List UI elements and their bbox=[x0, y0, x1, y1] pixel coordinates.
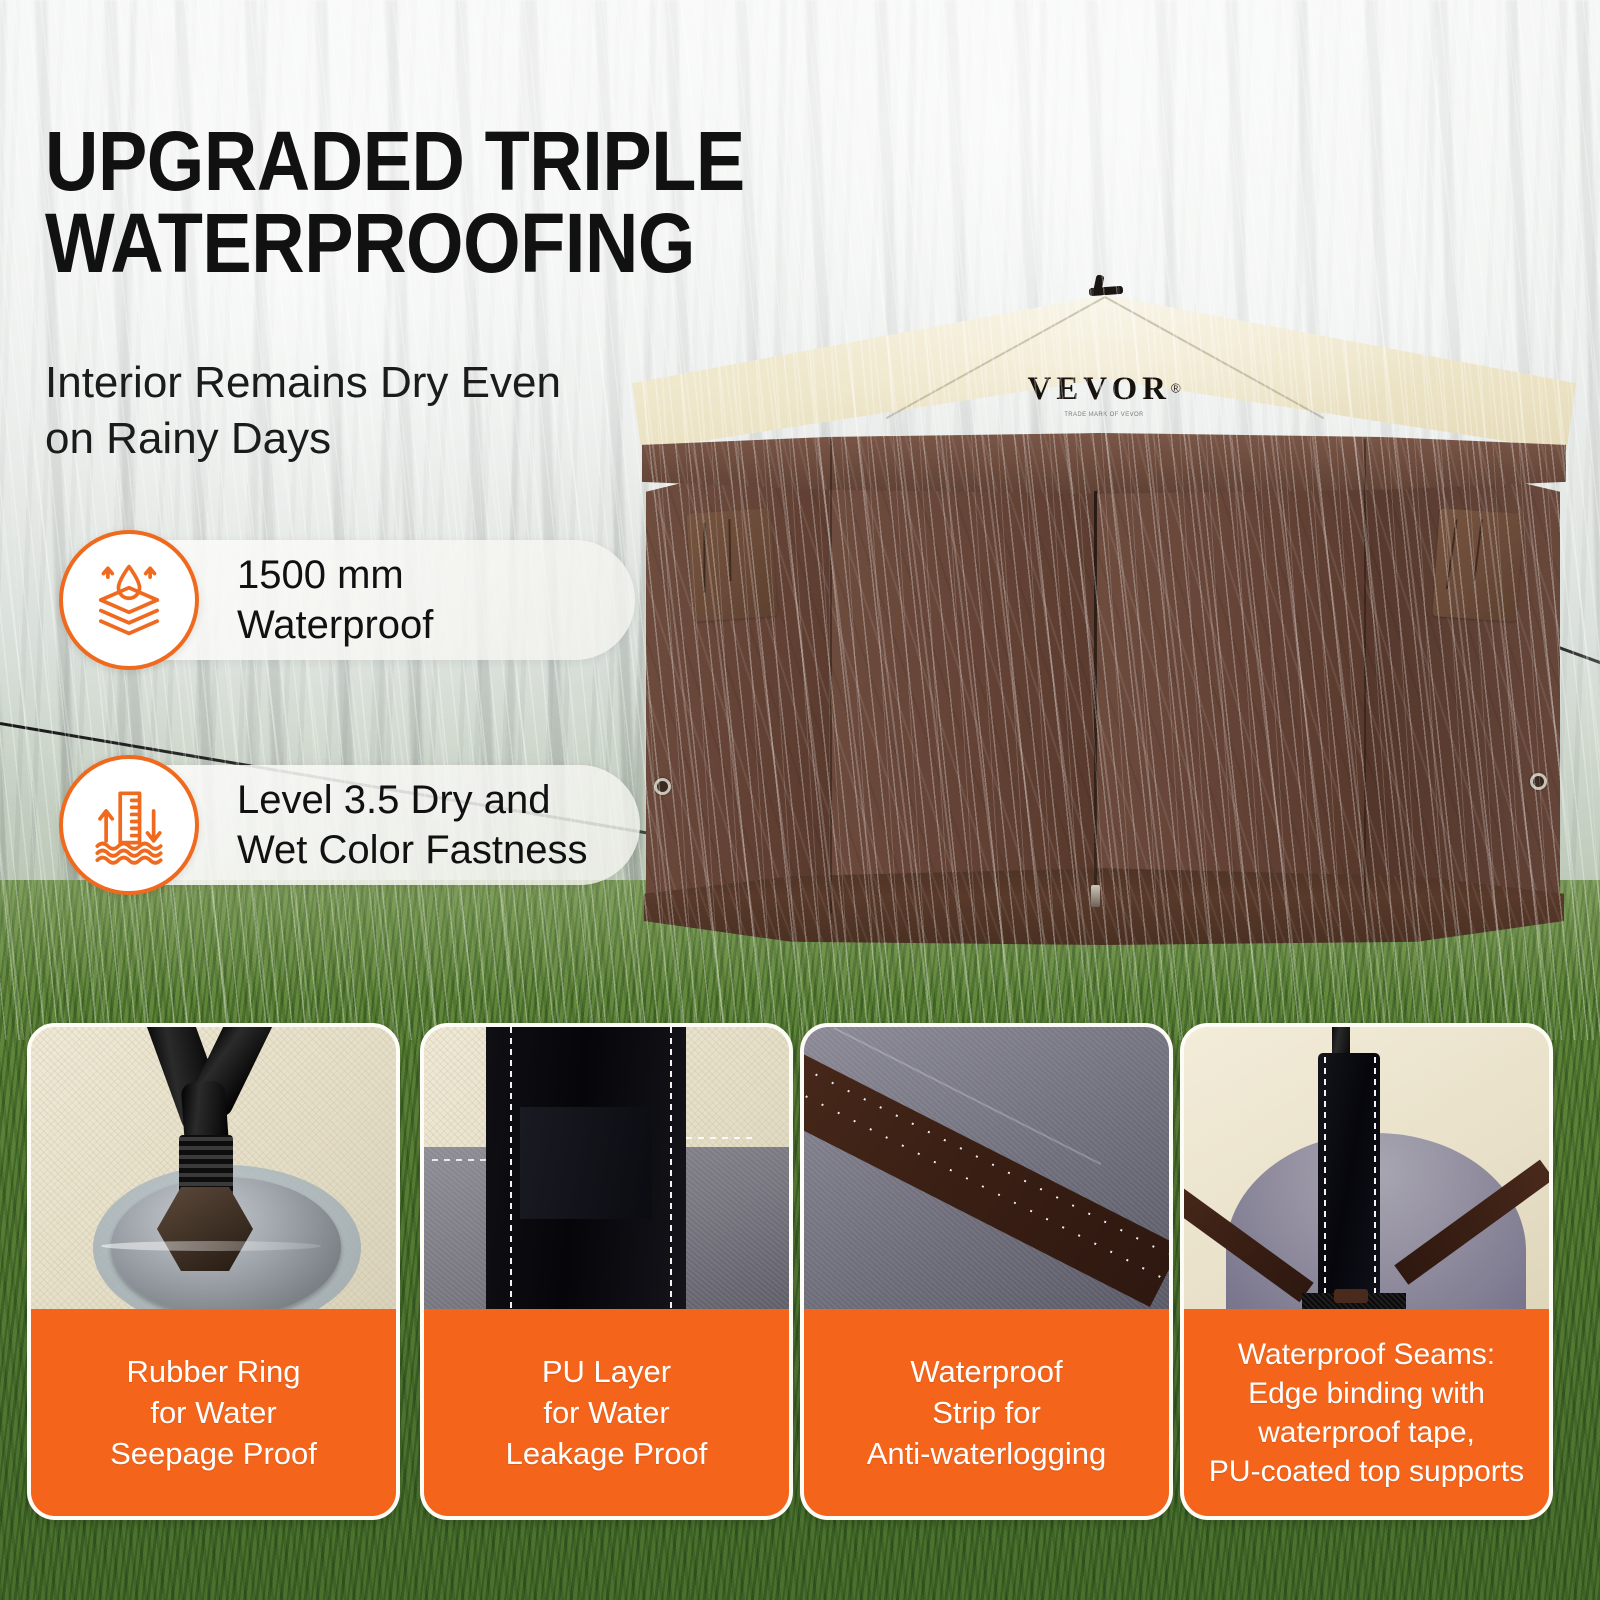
rubber-ring-bolt-photo bbox=[31, 1027, 396, 1317]
gazebo-tent-product: VEVOR® TRADE MARK OF VEVOR bbox=[624, 283, 1584, 943]
page-title: UPGRADED TRIPLE WATERPROOFING bbox=[45, 120, 767, 285]
detail-card-pu-layer-caption: PU Layer for Water Leakage Proof bbox=[424, 1309, 789, 1516]
detail-card-waterproof-strip-caption: Waterproof Strip for Anti-waterlogging bbox=[804, 1309, 1169, 1516]
brand-logo-text: VEVOR bbox=[1027, 371, 1171, 407]
tent-wall-front-left bbox=[829, 433, 1099, 933]
waterproof-seams-hub-photo bbox=[1184, 1027, 1549, 1317]
detail-card-waterproof-seams[interactable]: Waterproof Seams: Edge binding with wate… bbox=[1180, 1023, 1553, 1520]
tent-window-flap-left bbox=[686, 508, 777, 622]
brand-logo: VEVOR® TRADE MARK OF VEVOR bbox=[979, 371, 1229, 419]
tent-walls bbox=[624, 433, 1584, 943]
marketing-banner: VEVOR® TRADE MARK OF VEVOR UPGRADED TRIP… bbox=[0, 0, 1600, 1600]
pu-layer-seam-photo bbox=[424, 1027, 789, 1317]
waterproof-strip-photo bbox=[804, 1027, 1169, 1317]
feature-pill-waterproof-label: 1500 mm Waterproof bbox=[237, 550, 433, 650]
tent-door-zipper bbox=[1094, 491, 1097, 891]
feature-pill-color-fastness: Level 3.5 Dry and Wet Color Fastness bbox=[95, 765, 640, 885]
feature-pill-color-fastness-label: Level 3.5 Dry and Wet Color Fastness bbox=[237, 775, 588, 875]
detail-card-rubber-ring-caption: Rubber Ring for Water Seepage Proof bbox=[31, 1309, 396, 1516]
detail-card-pu-layer[interactable]: PU Layer for Water Leakage Proof bbox=[420, 1023, 793, 1520]
zipper-pull-icon bbox=[1091, 885, 1100, 907]
tent-window-flap-right bbox=[1432, 508, 1523, 622]
grommet-right bbox=[1530, 773, 1547, 790]
tent-wall-front-right bbox=[1096, 433, 1368, 933]
brand-registered-mark: ® bbox=[1171, 381, 1181, 396]
page-subtitle: Interior Remains Dry Even on Rainy Days bbox=[45, 355, 685, 468]
detail-cards-row: Rubber Ring for Water Seepage Proof PU L… bbox=[0, 1023, 1600, 1523]
detail-card-waterproof-seams-caption: Waterproof Seams: Edge binding with wate… bbox=[1184, 1309, 1549, 1516]
brand-subtext: TRADE MARK OF VEVOR bbox=[979, 411, 1229, 419]
feature-pill-waterproof: 1500 mm Waterproof bbox=[95, 540, 635, 660]
detail-card-waterproof-strip[interactable]: Waterproof Strip for Anti-waterlogging bbox=[800, 1023, 1173, 1520]
tent-corner-seam-right bbox=[1364, 439, 1366, 913]
tent-corner-seam-left bbox=[830, 439, 832, 913]
detail-card-rubber-ring[interactable]: Rubber Ring for Water Seepage Proof bbox=[27, 1023, 400, 1520]
color-fastness-gauge-icon bbox=[59, 755, 199, 895]
waterproof-layers-icon bbox=[59, 530, 199, 670]
grommet-left bbox=[654, 778, 671, 795]
